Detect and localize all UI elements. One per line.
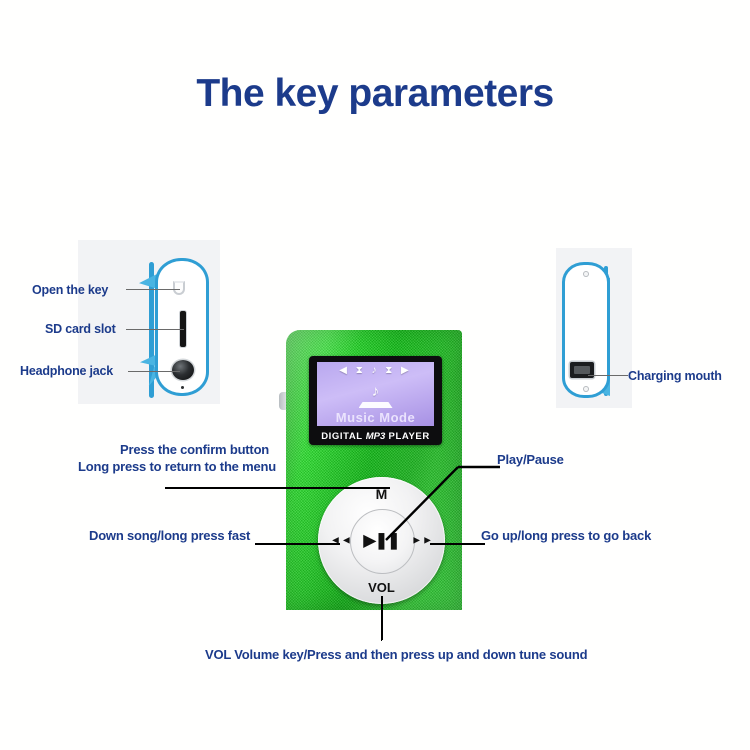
lcd-mode-text: Music Mode [317, 410, 434, 425]
slide-canvas: The key parameters Open the key SD card … [0, 0, 750, 750]
lcd-status-icons: ◀ ⧗ ♪ ⧗ ▶ [317, 366, 434, 376]
left-device-pinhole [181, 386, 184, 389]
volume-button-label[interactable]: VOL [368, 581, 395, 594]
brand-text: DIGITAL MP3 PLAYER [309, 431, 442, 442]
open-key-notch [173, 281, 185, 295]
label-volume: VOL Volume key/Press and then press up a… [205, 647, 587, 663]
leader-confirm-button [165, 487, 390, 489]
brand-mp3: MP3 [366, 431, 386, 442]
headphone-jack-port [172, 360, 194, 380]
brand-prefix: DIGITAL [321, 431, 366, 442]
brand-suffix: PLAYER [385, 431, 430, 442]
label-confirm-line1: Press the confirm button [120, 442, 269, 458]
lcd-pedestal-icon [359, 402, 393, 408]
right-device-screw-top [583, 271, 589, 277]
label-open-the-key: Open the key [32, 282, 108, 298]
leader-volume-horizontal [381, 639, 382, 641]
leader-headphone-jack [128, 371, 180, 372]
leader-sd-card-slot [126, 329, 184, 330]
label-headphone-jack: Headphone jack [20, 363, 113, 379]
leader-down-song [255, 543, 340, 545]
screen-bezel: ◀ ⧗ ♪ ⧗ ▶ ♪ Music Mode DIGITAL MP3 PLAYE… [309, 356, 442, 445]
leader-open-the-key [126, 289, 180, 290]
right-device-screw-bottom [583, 386, 589, 392]
label-charging-mouth: Charging mouth [628, 368, 722, 384]
page-title: The key parameters [0, 72, 750, 116]
previous-track-icon[interactable]: ◄◄ [330, 534, 352, 547]
label-play-pause: Play/Pause [497, 452, 564, 468]
music-note-icon: ♪ [317, 384, 434, 399]
label-sd-card-slot: SD card slot [45, 321, 116, 337]
leader-charging-mouth [588, 375, 628, 376]
lcd-screen: ◀ ⧗ ♪ ⧗ ▶ ♪ Music Mode [317, 362, 434, 426]
leader-go-up [430, 543, 485, 545]
leader-volume [381, 596, 383, 640]
label-go-up: Go up/long press to go back [481, 528, 651, 544]
label-confirm-line2: Long press to return to the menu [78, 459, 276, 475]
label-down-song: Down song/long press fast [89, 528, 250, 544]
